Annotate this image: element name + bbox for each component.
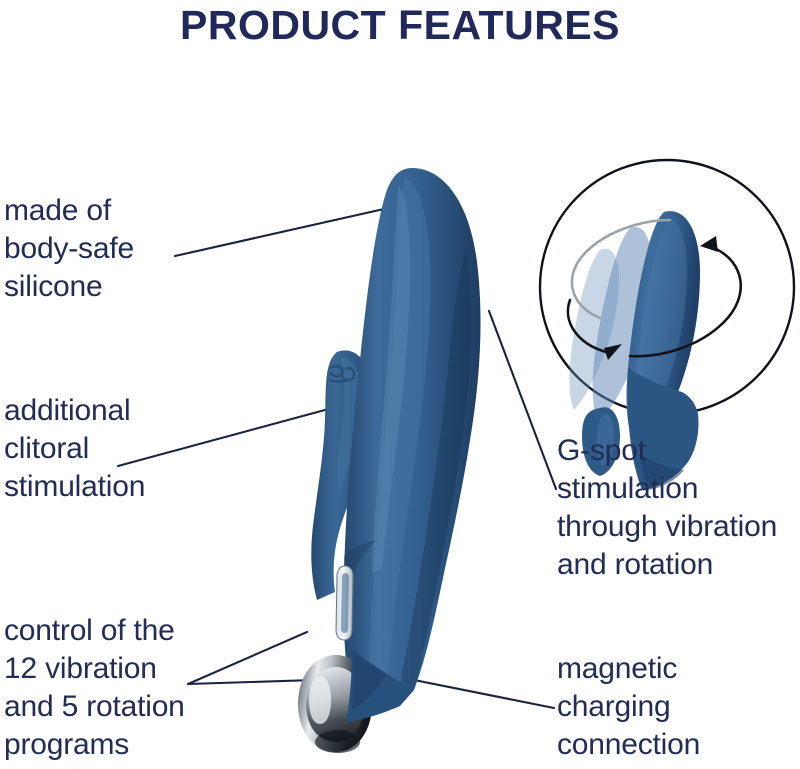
label-magnetic-charging: magnetic charging connection	[557, 650, 700, 764]
label-body-safe-silicone: made of body-safe silicone	[4, 192, 134, 306]
leader-silicone	[175, 209, 384, 256]
leader-control-upper	[188, 632, 307, 684]
label-gspot-stimulation: G-spot stimulation through vibration and…	[557, 432, 777, 584]
leader-clitoral	[118, 407, 336, 466]
page-title: PRODUCT FEATURES	[0, 2, 800, 49]
leader-gspot	[489, 311, 556, 489]
product-features-infographic: PRODUCT FEATURES made of body-safe silic…	[0, 0, 800, 769]
main-shaft	[343, 168, 480, 706]
label-control-programs: control of the 12 vibration and 5 rotati…	[4, 612, 185, 764]
label-additional-clitoral-stimulation: additional clitoral stimulation	[4, 392, 145, 506]
